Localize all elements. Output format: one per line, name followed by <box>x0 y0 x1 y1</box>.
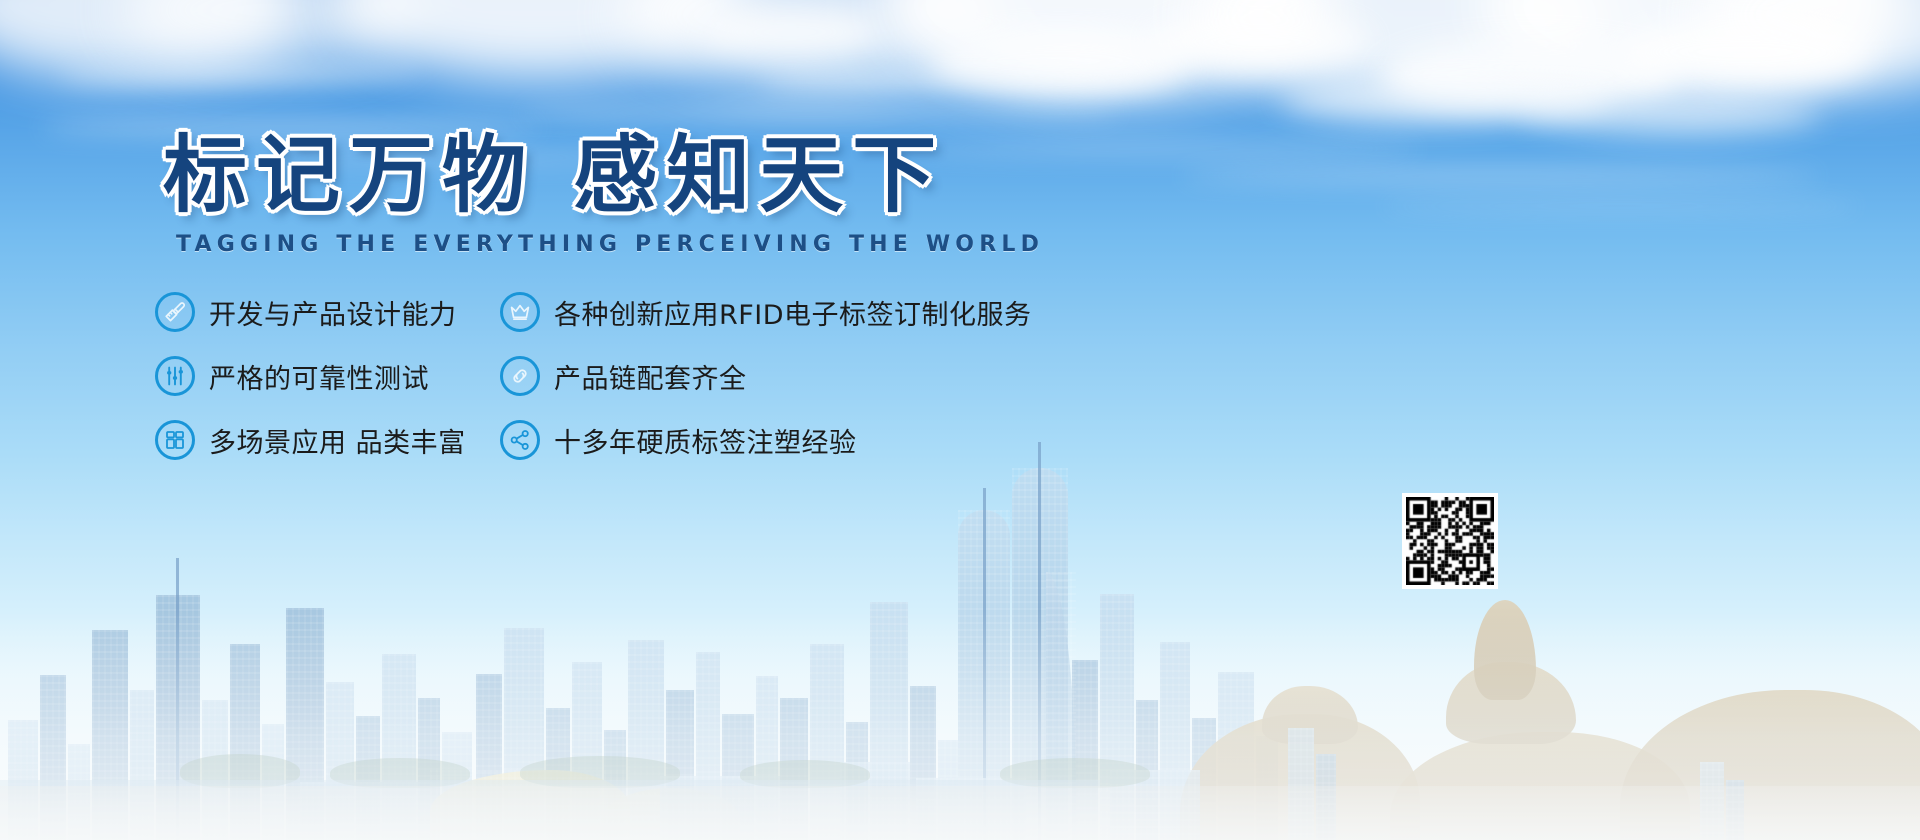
feature-label: 产品链配套齐全 <box>554 357 747 396</box>
feature-label: 多场景应用 品类丰富 <box>209 421 466 460</box>
feature-list: 开发与产品设计能力 各种创新应用RFID电子标签订制化服务 <box>155 292 1155 484</box>
waterfront <box>0 780 1100 840</box>
feature-label: 严格的可靠性测试 <box>209 357 429 396</box>
foreground-ground <box>0 786 1920 840</box>
feature-item-experience[interactable]: 十多年硬质标签注塑经验 <box>500 420 857 460</box>
share-nodes-icon <box>500 420 540 460</box>
feature-row: 开发与产品设计能力 各种创新应用RFID电子标签订制化服务 <box>155 292 1155 356</box>
link-chain-icon <box>500 356 540 396</box>
feature-label: 开发与产品设计能力 <box>209 293 457 332</box>
qr-code[interactable] <box>1402 493 1498 589</box>
ruler-pen-icon <box>155 292 195 332</box>
feature-item-rfid-service[interactable]: 各种创新应用RFID电子标签订制化服务 <box>500 292 1032 332</box>
feature-row: 多场景应用 品类丰富 十多年硬质标签注塑经验 <box>155 420 1155 484</box>
feature-item-design[interactable]: 开发与产品设计能力 <box>155 292 500 332</box>
feature-item-product-chain[interactable]: 产品链配套齐全 <box>500 356 747 396</box>
feature-label: 十多年硬质标签注塑经验 <box>554 421 857 460</box>
feature-item-reliability-test[interactable]: 严格的可靠性测试 <box>155 356 500 396</box>
crown-icon <box>500 292 540 332</box>
feature-row: 严格的可靠性测试 产品链配套齐全 <box>155 356 1155 420</box>
page-title: 标记万物 感知天下 <box>163 133 945 217</box>
feature-item-scenarios[interactable]: 多场景应用 品类丰富 <box>155 420 500 460</box>
promo-banner: 标记万物 感知天下 TAGGING THE EVERYTHING PERCEIV… <box>0 0 1920 840</box>
sliders-icon <box>155 356 195 396</box>
feature-label: 各种创新应用RFID电子标签订制化服务 <box>554 293 1032 332</box>
city-skyline <box>0 440 1920 840</box>
atmospheric-haze <box>0 610 1920 840</box>
page-subtitle: TAGGING THE EVERYTHING PERCEIVING THE WO… <box>176 232 1044 257</box>
grid-blocks-icon <box>155 420 195 460</box>
